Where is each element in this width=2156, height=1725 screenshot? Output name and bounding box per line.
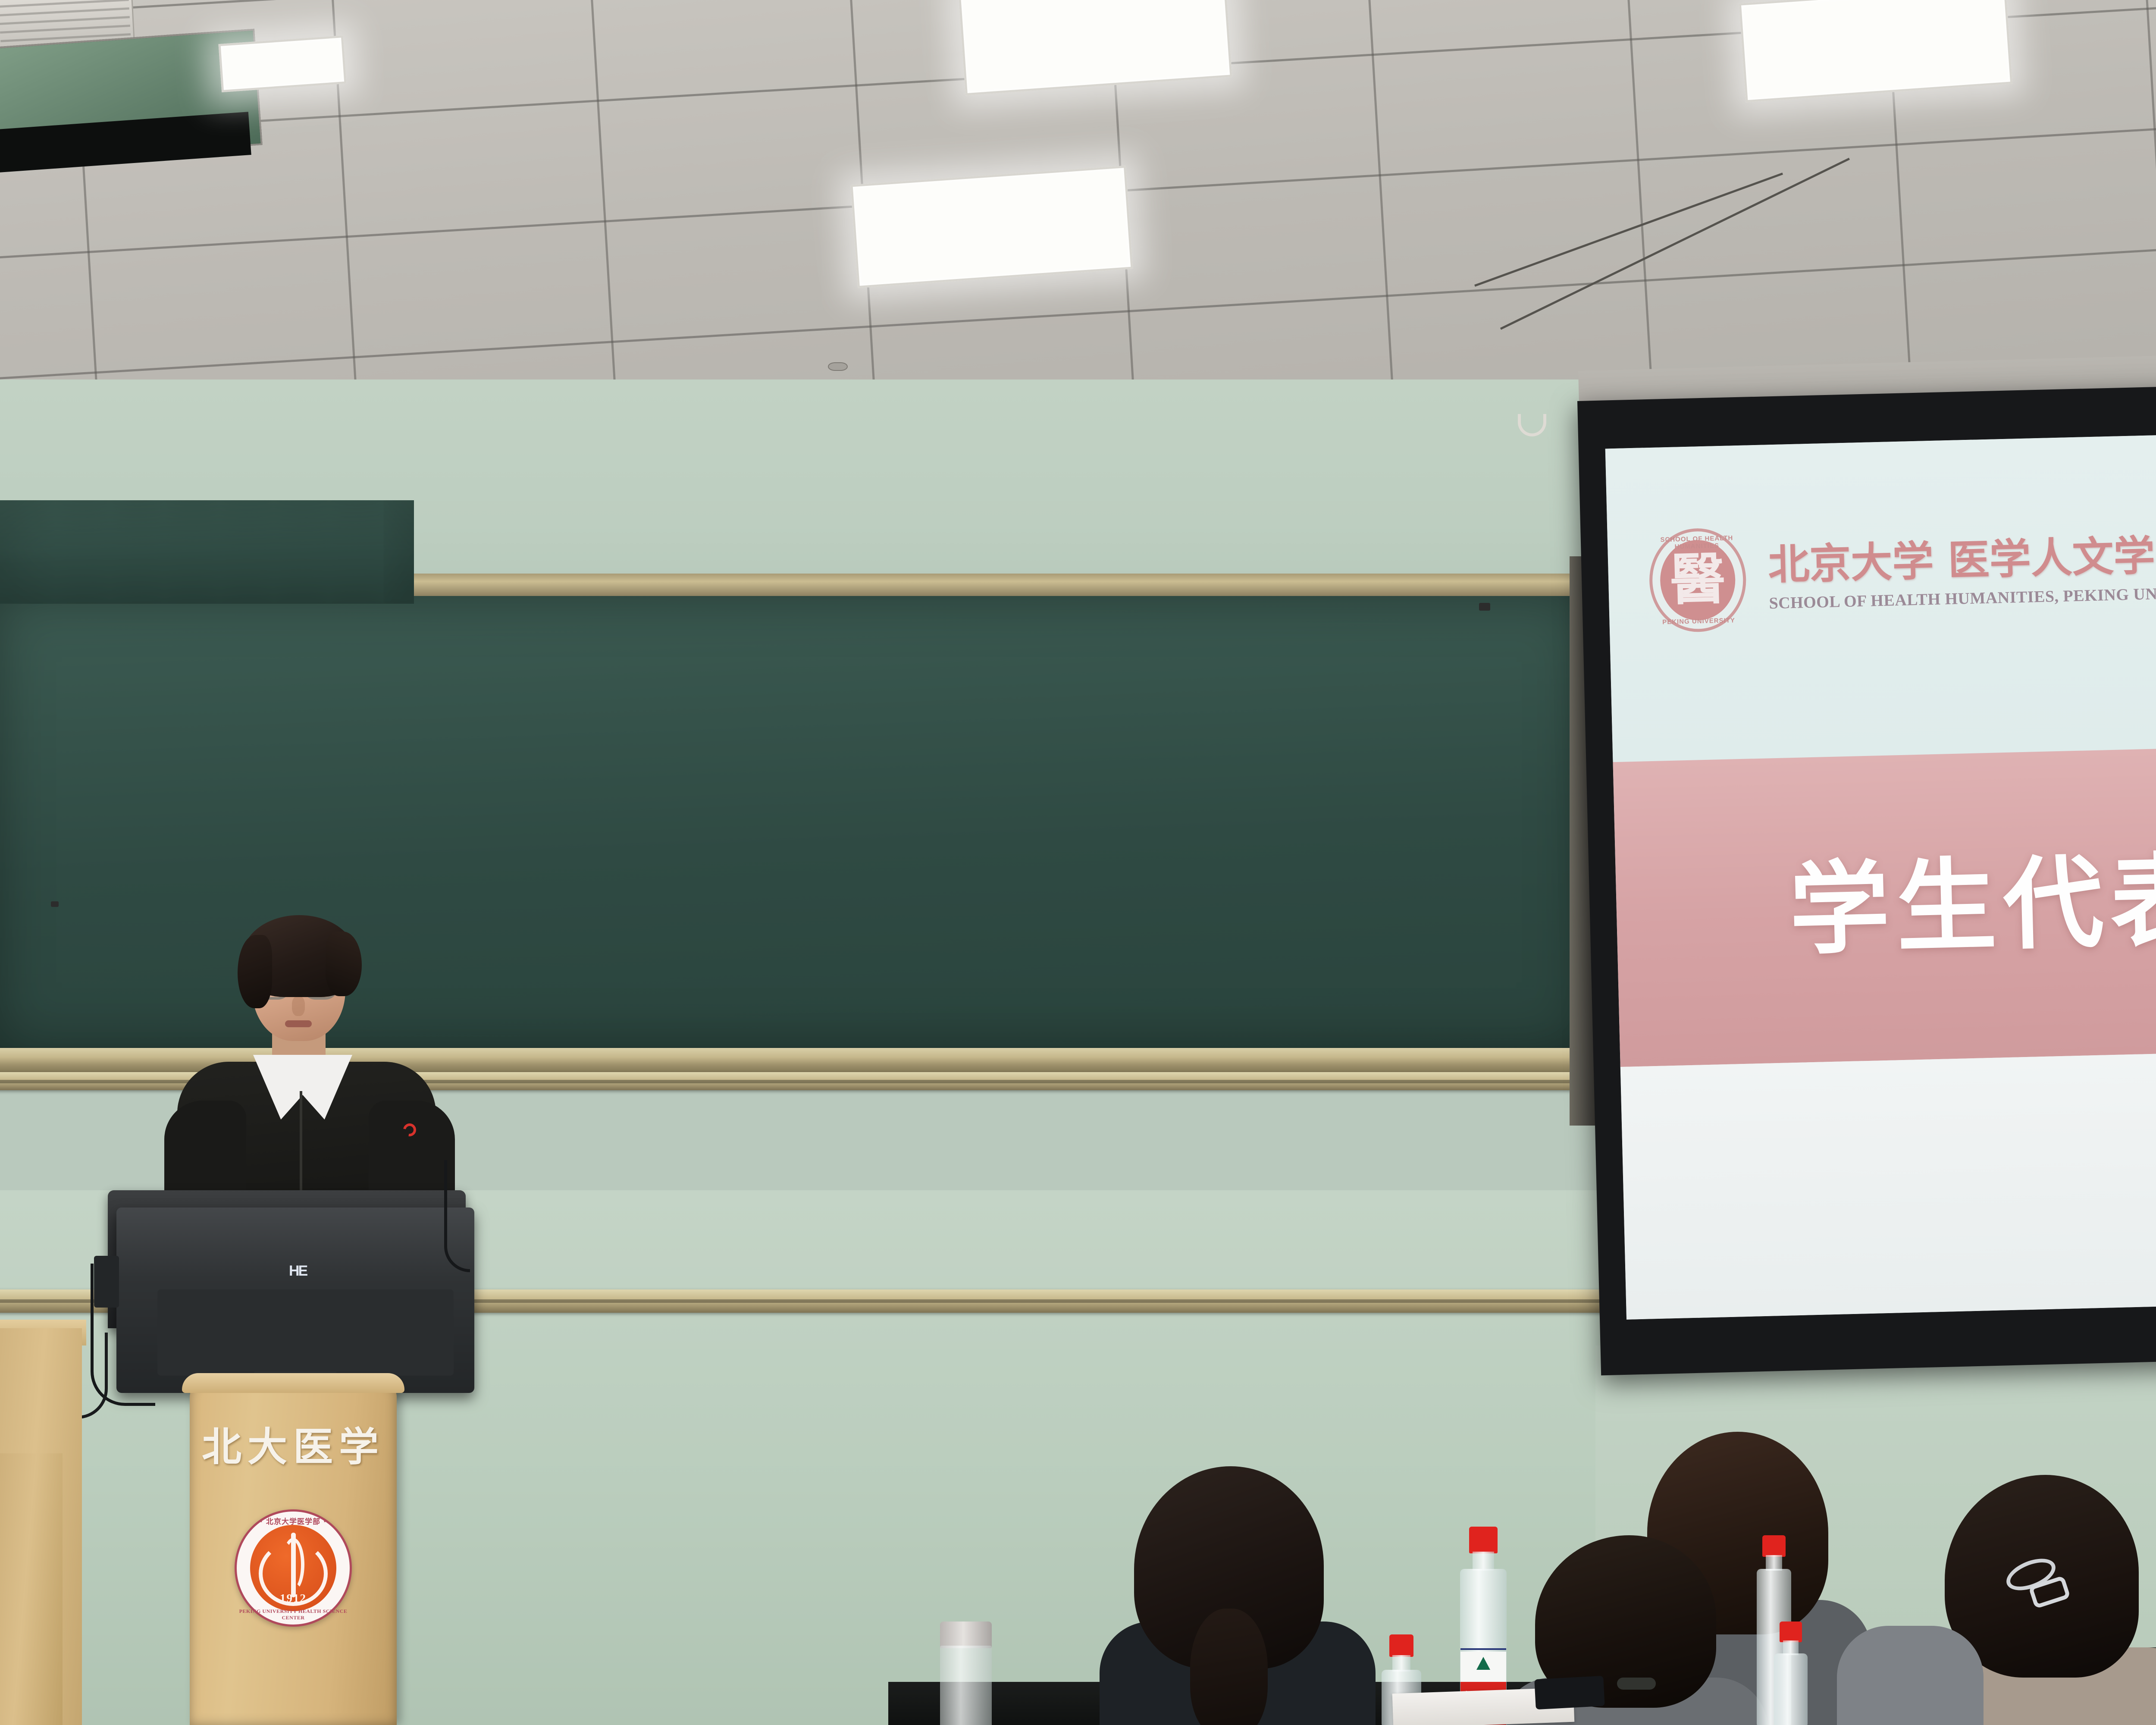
slide-title-text: 学生代表发言 — [1788, 845, 2156, 960]
podium: 北大医学 · 北京大学医学部 · 1912 PEKING UNIVERSITY … — [190, 1380, 397, 1725]
sprinkler-head-icon — [1281, 341, 1292, 355]
smoke-detector-icon — [828, 362, 848, 371]
podium-seal-core: 1912 — [250, 1525, 336, 1611]
podium-seal-year: 1912 — [250, 1592, 336, 1605]
chalk-piece-2 — [51, 901, 59, 907]
phone-on-table[interactable] — [1534, 1676, 1604, 1709]
speaker-nose — [292, 996, 305, 1016]
school-logo-text: 北京大学 医学人文学院 SCHOOL OF HEALTH HUMANITIES,… — [1767, 533, 2156, 613]
seal-arc-bottom-text: PEKING UNIVERSITY — [1653, 617, 1744, 626]
chalkboard-left-panel — [0, 500, 414, 604]
person-1-ponytail — [1190, 1609, 1268, 1725]
speaker-hair-right — [326, 931, 362, 996]
monitor-back-plate — [157, 1289, 454, 1376]
projection-screen: SCHOOL OF HEALTH HUMANITIES 醫 PEKING UNI… — [1577, 376, 2156, 1376]
school-seal-icon: SCHOOL OF HEALTH HUMANITIES 醫 PEKING UNI… — [1648, 527, 1747, 633]
seal-arc-top-text: SCHOOL OF HEALTH HUMANITIES — [1651, 534, 1742, 551]
monitor-brand-badge: HE — [289, 1263, 307, 1280]
podium-top-edge — [182, 1373, 404, 1393]
projected-slide: SCHOOL OF HEALTH HUMANITIES 醫 PEKING UNI… — [1605, 425, 2156, 1320]
podium-nameplate: 北大医学 — [190, 1427, 397, 1467]
person-7-body — [1837, 1626, 1984, 1725]
speaker-hair-left — [238, 935, 272, 1008]
speaker-mouth — [285, 1020, 312, 1027]
audience-person-1 — [1112, 1466, 1388, 1725]
glass-tumbler[interactable] — [940, 1621, 992, 1725]
podium-seal-ring-english: PEKING UNIVERSITY HEALTH SCIENCE CENTER — [237, 1608, 350, 1621]
slide-title: 学生代表发言 — [1613, 738, 2156, 1067]
side-desk-lower — [0, 1453, 63, 1725]
lectern-monitor[interactable]: HE — [116, 1207, 474, 1393]
lecture-hall-scene: SCHOOL OF HEALTH HUMANITIES 醫 PEKING UNI… — [0, 0, 2156, 1725]
chalk-piece — [1479, 603, 1490, 611]
water-bottle-4[interactable] — [1772, 1621, 1809, 1725]
podium-seal-icon: · 北京大学医学部 · 1912 PEKING UNIVERSITY HEALT… — [235, 1509, 352, 1627]
asclepius-snake-icon — [282, 1538, 304, 1591]
seal-glyph: 醫 — [1670, 552, 1726, 608]
ceiling-light-panel-3 — [850, 166, 1133, 288]
slide-footer-band — [1620, 1043, 2156, 1320]
person-3-hair-band — [1617, 1678, 1656, 1690]
power-cable-3 — [444, 1160, 470, 1272]
school-logo: SCHOOL OF HEALTH HUMANITIES 醫 PEKING UNI… — [1648, 515, 2156, 633]
ceiling-light-panel-1 — [218, 35, 346, 92]
audience-person-7 — [1854, 1578, 1975, 1725]
school-name-chinese: 北京大学 医学人文学院 — [1767, 533, 2156, 587]
ceiling — [0, 0, 2156, 414]
